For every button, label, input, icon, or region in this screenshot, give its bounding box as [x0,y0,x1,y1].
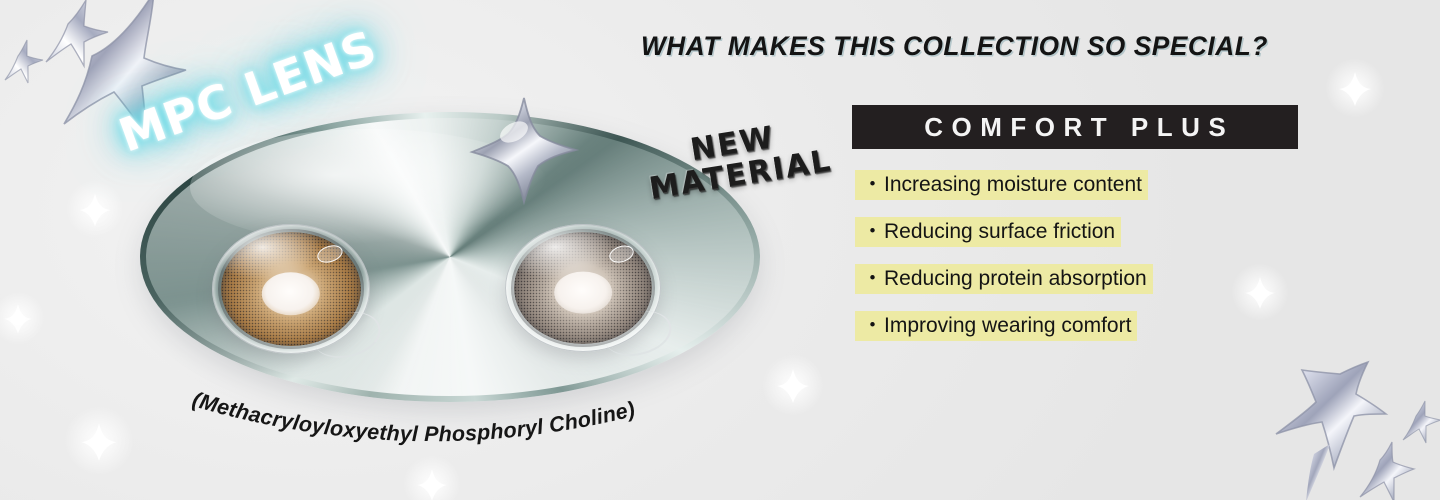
chemical-name-text: (Methacryloyloxyethyl Phosphoryl Choline… [190,387,638,446]
benefit-bullet-4: ・ [862,314,884,337]
promo-banner: MPC LENS NEW MATERIAL (Methacryloyloxyet… [0,0,1440,500]
left-lens [212,224,370,354]
page-title: WHAT MAKES THIS COLLECTION SO SPECIAL? [641,31,1268,62]
comfort-plus-banner: COMFORT PLUS [852,105,1298,149]
chemical-name-caption: (Methacryloyloxyethyl Phosphoryl Choline… [180,368,720,488]
benefits-list: ・Increasing moisture content ・Reducing s… [855,170,1153,358]
sparkle-top-right [1325,58,1385,118]
benefit-item-1: ・Increasing moisture content [855,170,1148,200]
sparkle-center-low [763,355,823,415]
comfort-plus-title: COMFORT PLUS [916,112,1235,143]
sparkle-mid-left [66,180,124,238]
chrome-star-cluster-bottom-right [1268,352,1440,500]
dish-sheen [190,129,550,245]
benefit-bullet-1: ・ [862,173,884,196]
sparkle-right-mid [1232,264,1288,320]
sparkle-far-left-top [0,292,44,344]
benefit-text-1: Increasing moisture content [884,173,1142,196]
benefit-text-4: Improving wearing comfort [884,314,1131,337]
benefit-bullet-3: ・ [862,267,884,290]
right-lens [505,224,661,352]
benefit-text-3: Reducing protein absorption [884,267,1147,290]
benefit-item-4: ・Improving wearing comfort [855,311,1137,341]
sparkle-bottom-left [66,408,132,474]
benefit-bullet-2: ・ [862,220,884,243]
benefit-text-2: Reducing surface friction [884,220,1115,243]
benefit-item-3: ・Reducing protein absorption [855,264,1153,294]
benefit-item-2: ・Reducing surface friction [855,217,1121,247]
